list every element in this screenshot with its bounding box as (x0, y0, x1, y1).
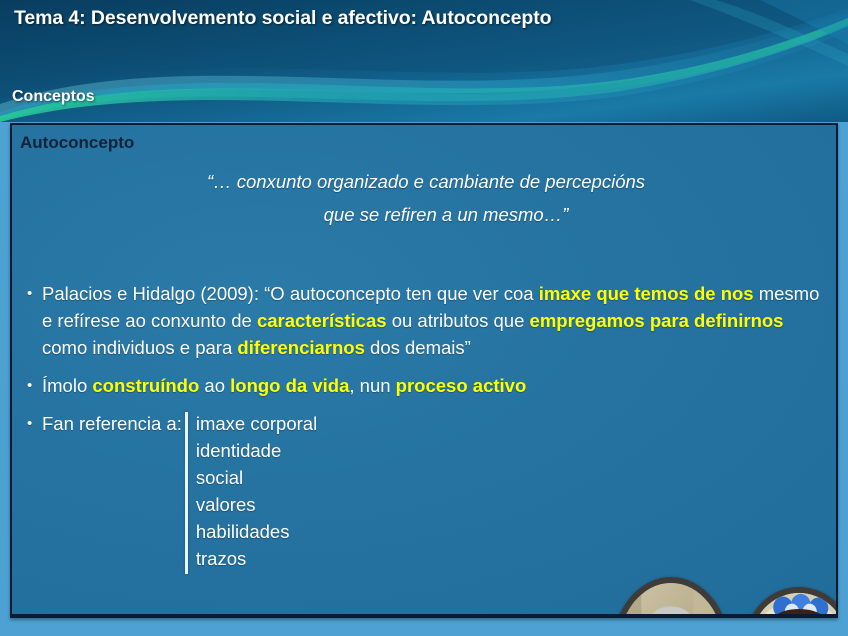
list-item: social (196, 464, 317, 491)
definition-quote: “… conxunto organizado e cambiante de pe… (12, 165, 838, 231)
highlight-imaxe-que-temos-de-nos: imaxe que temos de nos (539, 283, 754, 304)
portrait-photo-man (612, 577, 730, 618)
reference-group: Fan referencia a: imaxe corporal identid… (42, 410, 824, 574)
portrait-photo-man-image (618, 583, 724, 618)
bullet-item-palacios: • Palacios e Hidalgo (2009): “O autoconc… (24, 280, 824, 361)
highlight-longo-da-vida: longo da vida (230, 375, 349, 396)
reference-label: Fan referencia a: (42, 410, 182, 437)
highlight-diferenciarnos: diferenciarnos (237, 337, 365, 358)
list-item: habilidades (196, 518, 317, 545)
slide-header: Tema 4: Desenvolvemento social e afectiv… (0, 0, 848, 122)
bullet-text-segment: como individuos e para (42, 337, 237, 358)
list-item: valores (196, 491, 317, 518)
bullet-text-segment: Palacios e Hidalgo (2009): “O autoconcep… (42, 283, 539, 304)
bullet-marker-icon: • (27, 410, 32, 437)
highlight-caracteristicas: características (257, 310, 387, 331)
quote-line-2: que se refiren a un mesmo…” (12, 198, 838, 231)
bullet-marker-icon: • (27, 280, 32, 307)
box-title: Autoconcepto (20, 133, 134, 153)
page-title: Tema 4: Desenvolvemento social e afectiv… (14, 7, 551, 30)
bullet-marker-icon: • (27, 372, 32, 399)
highlight-empregamos-para-definirnos: empregamos para definirnos (530, 310, 784, 331)
reference-item-list: imaxe corporal identidade social valores… (196, 410, 317, 572)
highlight-construindo: construíndo (92, 375, 199, 396)
bullet-text-segment: ou atributos que (387, 310, 530, 331)
bullet-list: • Palacios e Hidalgo (2009): “O autoconc… (24, 280, 824, 574)
content-box: Autoconcepto “… conxunto organizado e ca… (10, 123, 838, 618)
slide: Tema 4: Desenvolvemento social e afectiv… (0, 0, 848, 636)
portrait-photo-woman (745, 587, 838, 618)
bullet-item-fan-referencia: • Fan referencia a: imaxe corporal ident… (24, 410, 824, 574)
highlight-proceso-activo: proceso activo (396, 375, 527, 396)
bullet-text-segment: dos demais” (365, 337, 471, 358)
bullet-text-segment: , nun (349, 375, 395, 396)
section-heading: Conceptos (12, 88, 95, 106)
list-item: trazos (196, 545, 317, 572)
quote-line-1: “… conxunto organizado e cambiante de pe… (12, 165, 838, 198)
portrait-photo-woman-image (751, 593, 838, 618)
bullet-text-segment: Ímolo (42, 375, 92, 396)
list-item: imaxe corporal (196, 410, 317, 437)
vertical-divider (185, 412, 188, 574)
list-item: identidade (196, 437, 317, 464)
bullet-text-segment: ao (199, 375, 230, 396)
bullet-item-construindo: • Ímolo construíndo ao longo da vida, nu… (24, 372, 824, 399)
